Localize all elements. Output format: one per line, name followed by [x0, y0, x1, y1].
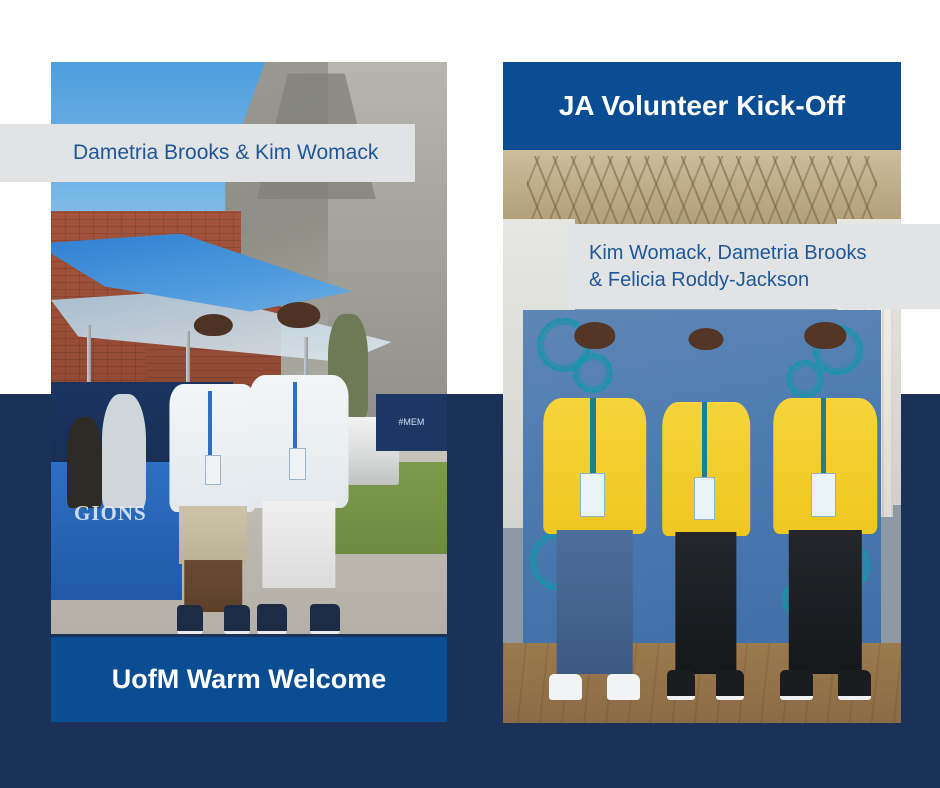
caption-kim-dametria-felicia: Kim Womack, Dametria Brooks & Felicia Ro… — [568, 224, 940, 309]
person-dametria-brooks — [662, 328, 750, 700]
ceiling-beams — [527, 156, 877, 230]
name-badge — [811, 473, 836, 517]
shoe — [716, 670, 744, 700]
slide-canvas: GIONS #MEM inspire spire — [0, 0, 940, 788]
shoe — [667, 670, 695, 700]
lanyard — [821, 398, 826, 474]
name-badge — [289, 448, 307, 480]
person-jeans — [556, 530, 633, 674]
lanyard — [208, 391, 212, 455]
lanyard — [293, 382, 298, 448]
person-head — [688, 328, 723, 351]
name-badge — [694, 477, 715, 520]
regions-banner-text: GIONS — [51, 474, 170, 554]
shoe — [549, 674, 582, 700]
person-felicia-roddy-jackson — [774, 322, 877, 700]
person-head — [194, 314, 232, 337]
person-pants — [675, 532, 736, 674]
person-head — [277, 302, 321, 328]
person-shirt — [249, 375, 348, 508]
shoe — [257, 604, 287, 634]
person-head — [574, 322, 615, 349]
person-dametria-brooks — [170, 314, 257, 634]
lanyard — [590, 398, 595, 474]
person-shorts — [179, 506, 247, 564]
shoe — [310, 604, 340, 634]
shoe — [838, 670, 871, 700]
title-uofm-warm-welcome: UofM Warm Welcome — [51, 637, 447, 722]
person-legs — [185, 560, 242, 611]
shoe — [780, 670, 813, 700]
caption-line-2: & Felicia Roddy-Jackson — [589, 267, 866, 294]
person-kim-womack — [249, 302, 348, 634]
title-ja-volunteer-kickoff: JA Volunteer Kick-Off — [503, 62, 901, 150]
lanyard — [702, 402, 706, 476]
shoe — [224, 605, 250, 634]
person-kim-womack — [543, 322, 646, 700]
hashtag-sign-text: #MEM — [376, 394, 447, 451]
person-pants — [789, 530, 861, 674]
person-head — [805, 322, 846, 349]
caption-line-1: Kim Womack, Dametria Brooks — [589, 240, 866, 267]
person-shirt — [170, 384, 257, 512]
shoe — [607, 674, 640, 700]
name-badge — [205, 455, 221, 486]
caption-dametria-brooks-kim-womack: Dametria Brooks & Kim Womack — [0, 124, 415, 182]
name-badge — [580, 473, 605, 517]
person-pants — [262, 501, 335, 587]
shoe — [177, 605, 203, 634]
